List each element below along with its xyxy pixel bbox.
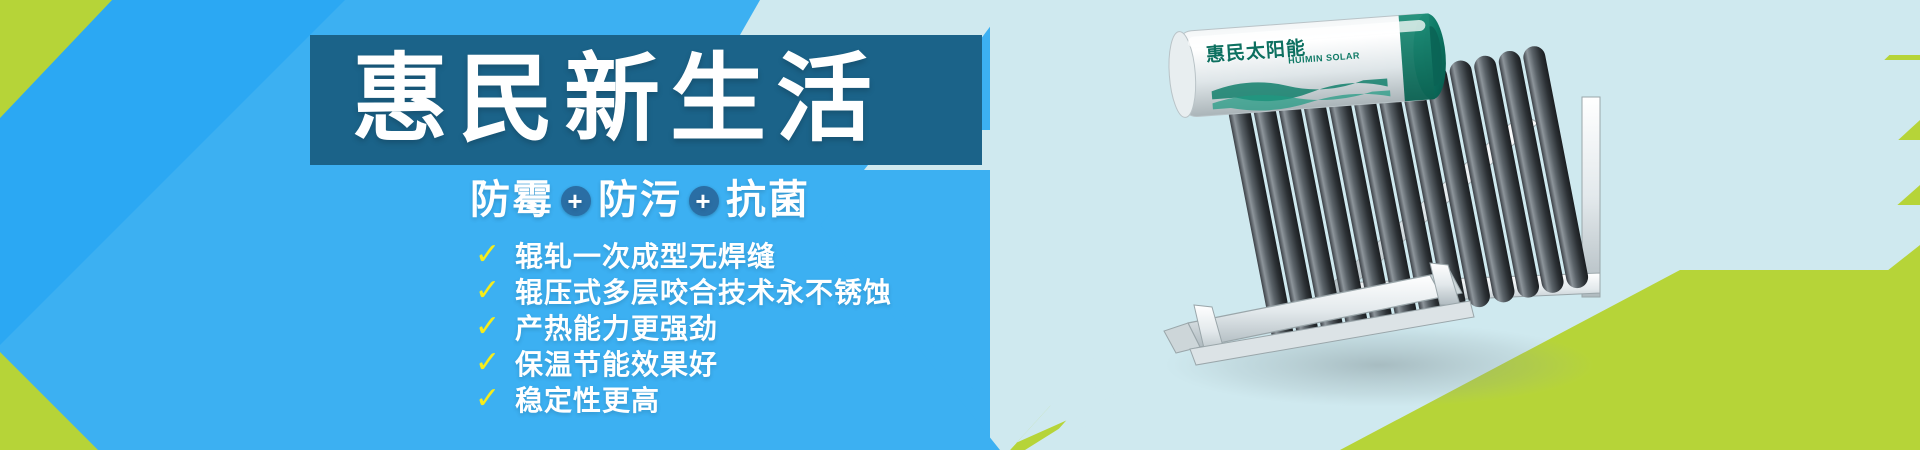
plus-icon: + bbox=[561, 186, 591, 216]
check-icon: ✓ bbox=[475, 276, 515, 306]
plus-icon: + bbox=[689, 186, 719, 216]
subtitle: 防霉 + 防污 + 抗菌 bbox=[470, 176, 810, 224]
list-item: ✓ 保温节能效果好 bbox=[475, 345, 892, 381]
list-item-label: 保温节能效果好 bbox=[515, 343, 718, 383]
list-item-label: 辊轧一次成型无焊缝 bbox=[515, 235, 776, 275]
list-item-label: 稳定性更高 bbox=[515, 379, 660, 419]
list-item: ✓ 辊压式多层咬合技术永不锈蚀 bbox=[475, 273, 892, 309]
list-item-label: 辊压式多层咬合技术永不锈蚀 bbox=[515, 271, 892, 311]
check-icon: ✓ bbox=[475, 384, 515, 414]
list-item: ✓ 产热能力更强劲 bbox=[475, 309, 892, 345]
check-icon: ✓ bbox=[475, 240, 515, 270]
list-item: ✓ 辊轧一次成型无焊缝 bbox=[475, 237, 892, 273]
text-content: 惠民新生活 防霉 + 防污 + 抗菌 ✓ 辊轧一次成型无焊缝 ✓ 辊压式多层咬合… bbox=[0, 0, 1000, 450]
check-icon: ✓ bbox=[475, 348, 515, 378]
feature-list: ✓ 辊轧一次成型无焊缝 ✓ 辊压式多层咬合技术永不锈蚀 ✓ 产热能力更强劲 ✓ … bbox=[475, 237, 892, 417]
subtitle-part-2: 防污 bbox=[598, 176, 682, 224]
list-item: ✓ 稳定性更高 bbox=[475, 381, 892, 417]
product-image: 惠民太阳能 HUIMIN SOLAR bbox=[1130, 5, 1770, 435]
page-title: 惠民新生活 bbox=[352, 44, 952, 156]
promo-banner: 惠民新生活 防霉 + 防污 + 抗菌 ✓ 辊轧一次成型无焊缝 ✓ 辊压式多层咬合… bbox=[0, 0, 1920, 450]
subtitle-part-1: 防霉 bbox=[470, 176, 554, 224]
subtitle-part-3: 抗菌 bbox=[726, 176, 810, 224]
check-icon: ✓ bbox=[475, 312, 515, 342]
list-item-label: 产热能力更强劲 bbox=[515, 307, 718, 347]
